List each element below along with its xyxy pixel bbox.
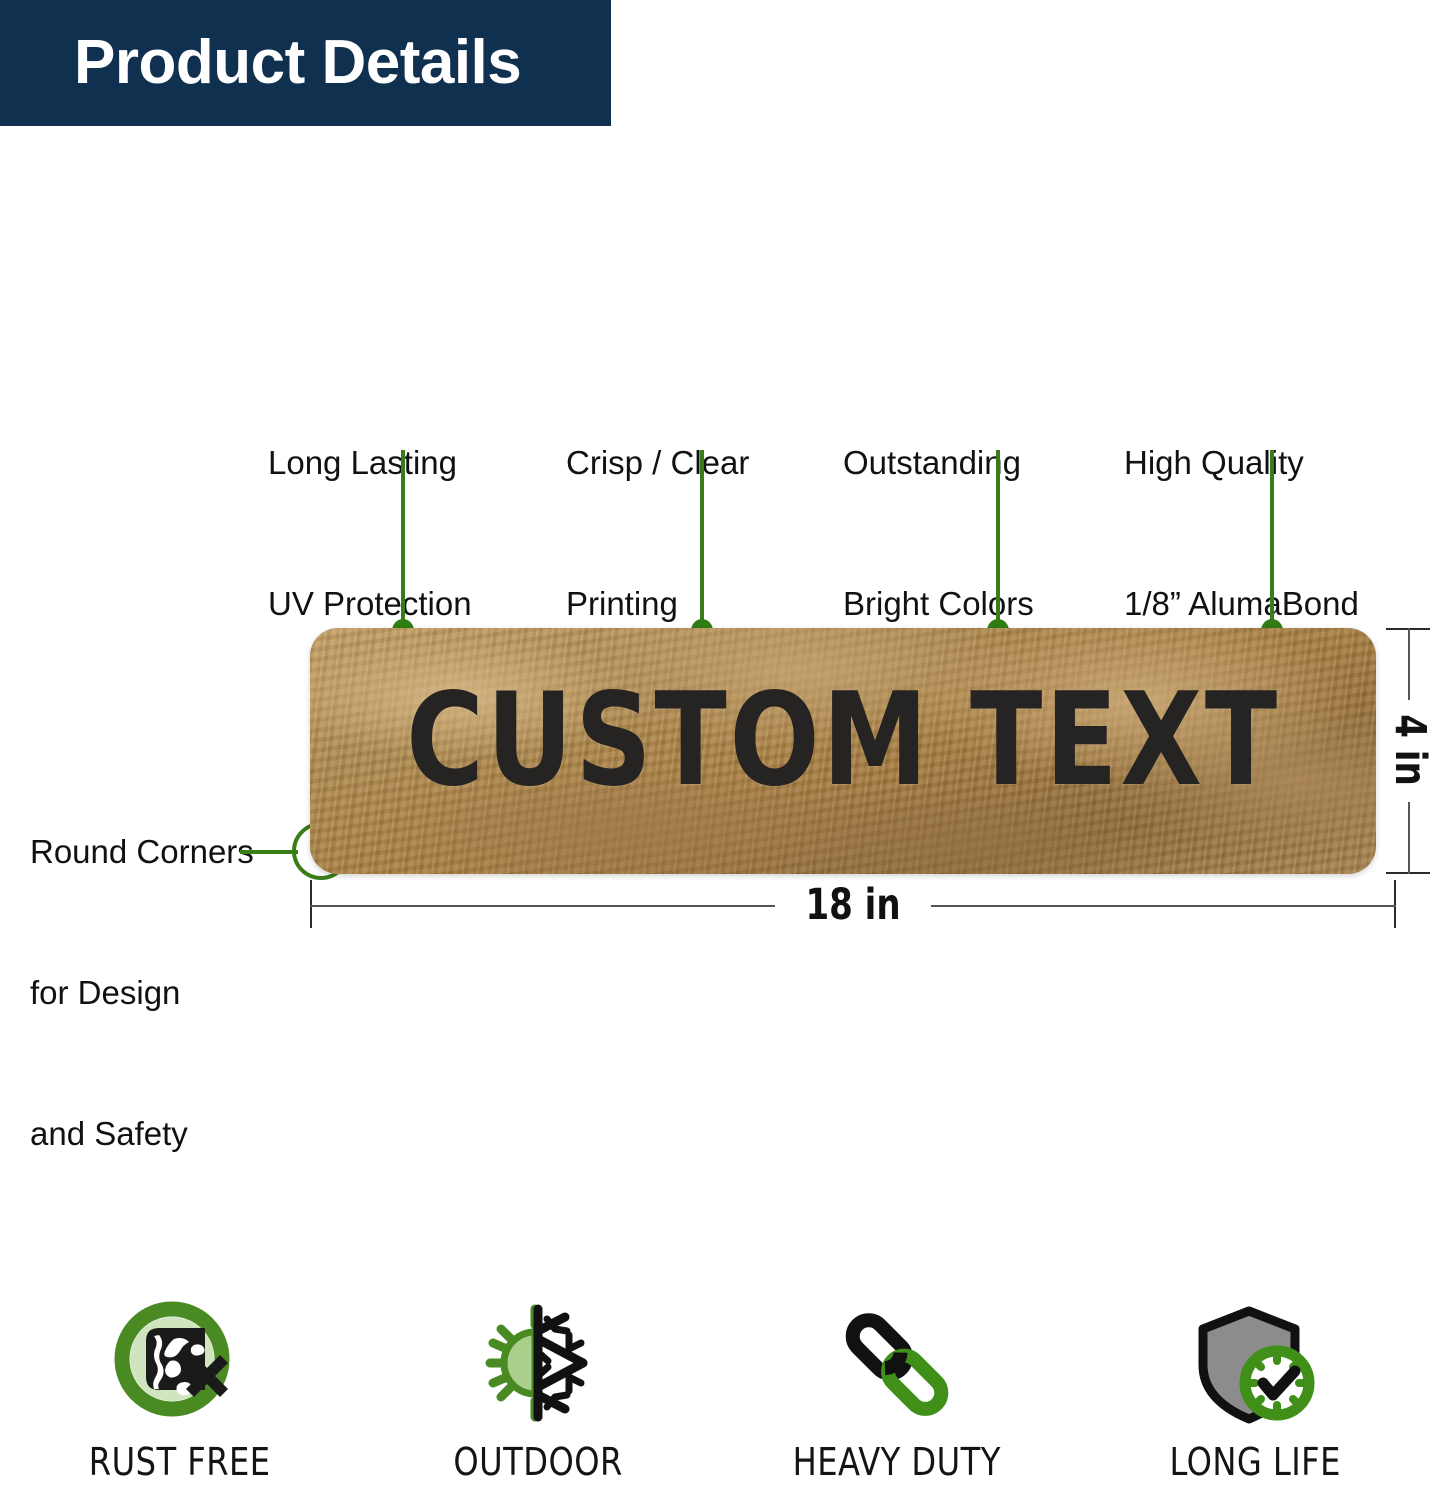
height-dimension: 4 in <box>1386 628 1432 874</box>
callout-label-round-corners: Round Corners for Design and Safety <box>30 734 254 1251</box>
height-dimension-label: 4 in <box>1387 662 1433 838</box>
callout-line-1: High Quality <box>1124 439 1359 486</box>
chain-link-icon <box>832 1300 962 1432</box>
sun-snowflake-icon <box>473 1300 603 1432</box>
leader-line-alumabond <box>1270 450 1274 630</box>
corner-callout-line-1: Round Corners <box>30 828 254 875</box>
product-sign: CUSTOM TEXT <box>310 628 1376 874</box>
feature-heavy-duty: HEAVY DUTY <box>718 1300 1077 1500</box>
shield-clock-icon <box>1191 1300 1321 1432</box>
callout-line-1: Crisp / Clear <box>566 439 749 486</box>
product-details-infographic: Product Details Long Lasting UV Protecti… <box>0 0 1435 1500</box>
leader-line-bright-colors <box>996 450 1000 630</box>
width-dimension-cap-right <box>1394 880 1396 928</box>
width-dimension-cap-left <box>310 880 312 928</box>
callout-line-1: Outstanding <box>843 439 1034 486</box>
rust-free-icon <box>114 1300 244 1432</box>
feature-outdoor: OUTDOOR <box>359 1300 718 1500</box>
width-dimension: 18 in <box>310 880 1396 930</box>
feature-label-long-life: LONG LIFE <box>1170 1440 1341 1484</box>
feature-badges-row: RUST FREE <box>0 1300 1435 1500</box>
feature-long-life: LONG LIFE <box>1076 1300 1435 1500</box>
callout-line-2: Printing <box>566 580 749 627</box>
leader-line-round-corners <box>240 850 298 854</box>
feature-label-heavy-duty: HEAVY DUTY <box>793 1440 1001 1484</box>
callout-line-2: 1/8” AlumaBond <box>1124 580 1359 627</box>
callout-line-2: UV Protection <box>268 580 472 627</box>
callout-line-2: Bright Colors <box>843 580 1034 627</box>
width-dimension-label: 18 in <box>375 880 1331 930</box>
callout-line-1: Long Lasting <box>268 439 472 486</box>
feature-label-outdoor: OUTDOOR <box>453 1440 622 1484</box>
feature-rust-free: RUST FREE <box>0 1300 359 1500</box>
leader-line-uv-protection <box>401 450 405 630</box>
header-banner: Product Details <box>0 0 611 126</box>
corner-callout-line-3: and Safety <box>30 1110 254 1157</box>
leader-line-crisp-printing <box>700 450 704 630</box>
corner-callout-line-2: for Design <box>30 969 254 1016</box>
feature-label-rust-free: RUST FREE <box>89 1440 271 1484</box>
sign-text: CUSTOM TEXT <box>353 628 1334 874</box>
page-title: Product Details <box>74 27 521 99</box>
